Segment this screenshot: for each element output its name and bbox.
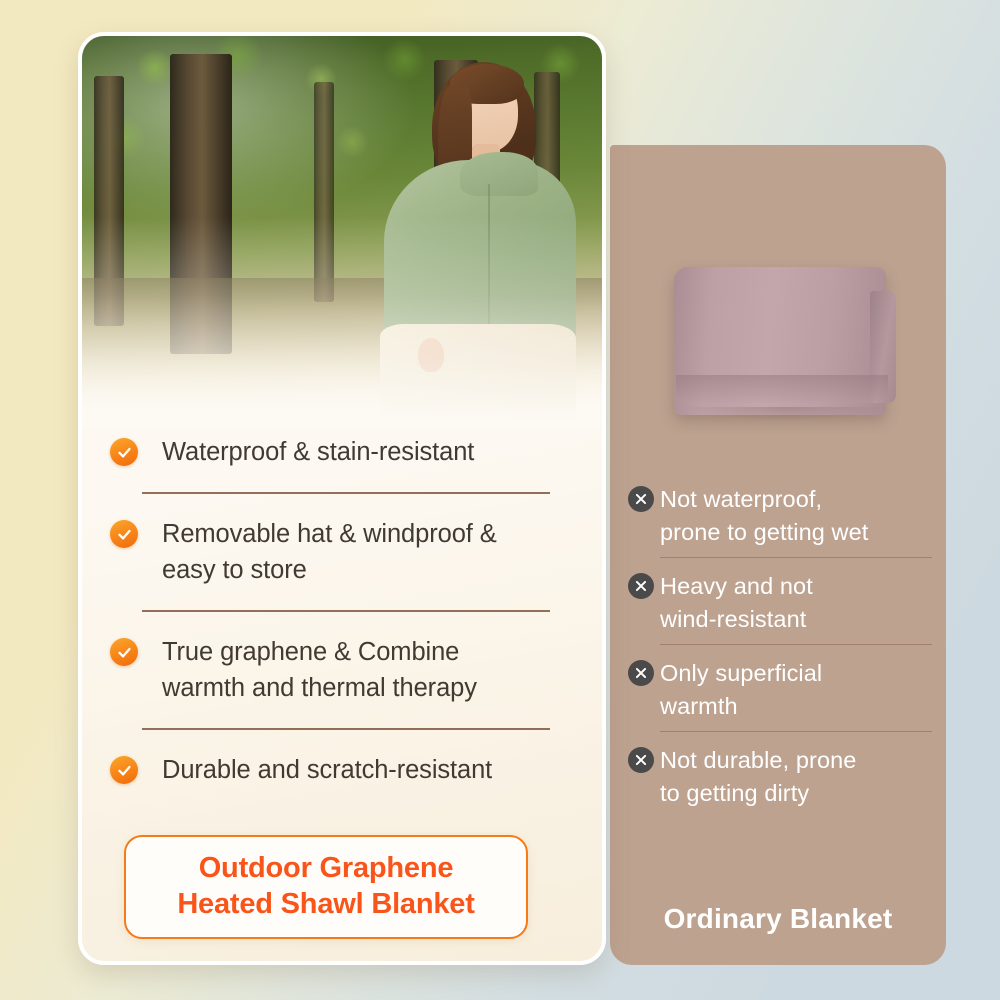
divider [142, 610, 550, 612]
features-list: Waterproof & stain-resistant Removable h… [82, 434, 602, 788]
ordinary-blanket-label: Ordinary Blanket [610, 903, 946, 935]
x-circle-icon [628, 486, 654, 512]
list-item: True graphene & Combine warmth and therm… [110, 634, 574, 706]
divider [660, 731, 932, 732]
drawback-label: Not durable, prone to getting dirty [660, 744, 930, 810]
blanket-fold-line [676, 375, 888, 403]
drawback-label: Heavy and not wind-resistant [660, 570, 930, 636]
photo-fade-overlay [82, 36, 602, 428]
list-item: Not waterproof, prone to getting wet [610, 483, 946, 549]
feature-label: Waterproof & stain-resistant [162, 434, 574, 470]
check-circle-icon [110, 756, 138, 784]
list-item: Waterproof & stain-resistant [110, 434, 574, 470]
check-circle-icon [110, 638, 138, 666]
blanket-shadow [682, 407, 888, 421]
list-item: Not durable, prone to getting dirty [610, 744, 946, 810]
drawbacks-list: Not waterproof, prone to getting wet Hea… [610, 483, 946, 810]
x-circle-icon [628, 660, 654, 686]
product-card: Waterproof & stain-resistant Removable h… [78, 32, 606, 965]
list-item: Only superficial warmth [610, 657, 946, 723]
list-item: Heavy and not wind-resistant [610, 570, 946, 636]
drawback-label: Only superficial warmth [660, 657, 930, 723]
check-circle-icon [110, 438, 138, 466]
divider [142, 492, 550, 494]
product-name-label: Outdoor Graphene Heated Shawl Blanket [136, 850, 516, 922]
x-circle-icon [628, 573, 654, 599]
list-item: Removable hat & windproof & easy to stor… [110, 516, 574, 588]
feature-label: Durable and scratch-resistant [162, 752, 574, 788]
feature-label: True graphene & Combine warmth and therm… [162, 634, 574, 706]
product-name-badge: Outdoor Graphene Heated Shawl Blanket [124, 835, 528, 939]
comparison-infographic: Not waterproof, prone to getting wet Hea… [0, 0, 1000, 1000]
folded-mauve-blanket-photo [648, 255, 908, 435]
divider [142, 728, 550, 730]
ordinary-blanket-panel: Not waterproof, prone to getting wet Hea… [610, 145, 946, 965]
divider [660, 644, 932, 645]
divider [660, 557, 932, 558]
woman-wearing-shawl-blanket-in-forest-photo [82, 36, 602, 428]
x-circle-icon [628, 747, 654, 773]
feature-label: Removable hat & windproof & easy to stor… [162, 516, 574, 588]
check-circle-icon [110, 520, 138, 548]
list-item: Durable and scratch-resistant [110, 752, 574, 788]
drawback-label: Not waterproof, prone to getting wet [660, 483, 930, 549]
